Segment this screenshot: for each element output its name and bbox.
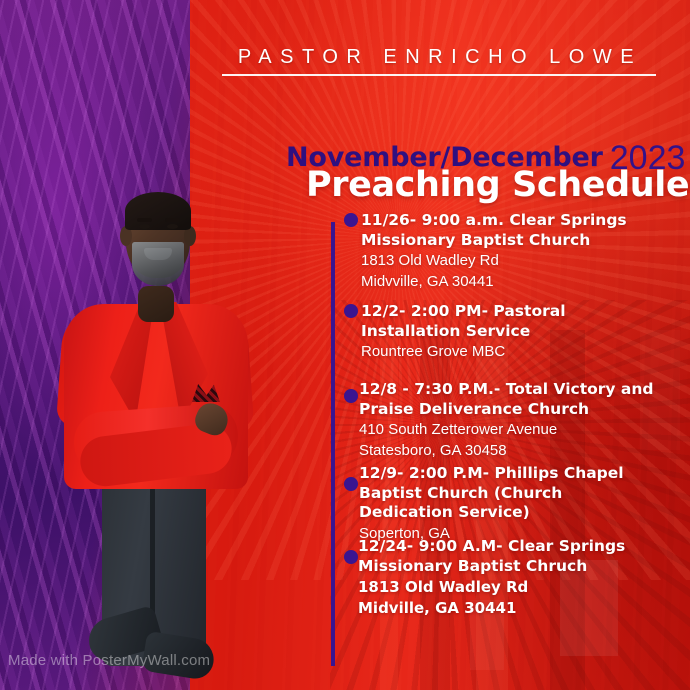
timeline-dot bbox=[344, 389, 358, 403]
timeline-dot bbox=[344, 550, 358, 564]
entry-address-line2: Statesboro, GA 30458 bbox=[359, 442, 659, 460]
entry-address-line1: 1813 Old Wadley Rd bbox=[361, 252, 661, 270]
postermywall-watermark: Made with PosterMyWall.com bbox=[8, 652, 210, 669]
pastor-name-underline bbox=[222, 74, 656, 76]
pastor-name-heading: PASTOR ENRICHO LOWE bbox=[222, 46, 658, 69]
portrait-beard bbox=[132, 242, 184, 286]
timeline-dot bbox=[344, 213, 358, 227]
entry-headline: 11/26- 9:00 a.m. Clear Springs Missionar… bbox=[361, 211, 661, 250]
entry-headline: 12/24- 9:00 A.M- Clear Springs Missionar… bbox=[358, 537, 668, 576]
timeline-dot bbox=[344, 304, 358, 318]
schedule-entry: 12/8 - 7:30 P.M.- Total Victory and Prai… bbox=[359, 380, 659, 460]
portrait-eye-right bbox=[167, 224, 178, 229]
schedule-entry: 12/9- 2:00 P.M- Phillips Chapel Baptist … bbox=[359, 464, 644, 543]
entry-address-line2: Midvville, GA 30441 bbox=[361, 273, 661, 291]
entry-headline: 12/9- 2:00 P.M- Phillips Chapel Baptist … bbox=[359, 464, 644, 523]
page-title: Preaching Schedule bbox=[306, 165, 689, 205]
schedule-entry: 11/26- 9:00 a.m. Clear Springs Missionar… bbox=[361, 211, 661, 291]
portrait-eyebrow-right bbox=[165, 218, 180, 222]
entry-address-line1: Rountree Grove MBC bbox=[361, 343, 651, 361]
pastor-portrait-photo bbox=[40, 108, 270, 663]
timeline-dot bbox=[344, 477, 358, 491]
entry-headline: 12/2- 2:00 PM- Pastoral Installation Ser… bbox=[361, 302, 651, 341]
entry-address-line1: 410 South Zetterower Avenue bbox=[359, 421, 659, 439]
portrait-eye-left bbox=[139, 224, 150, 229]
entry-address-line1: 1813 Old Wadley Rd bbox=[358, 578, 668, 596]
portrait-eyebrow-left bbox=[137, 218, 152, 222]
entry-headline: 12/8 - 7:30 P.M.- Total Victory and Prai… bbox=[359, 380, 659, 419]
timeline-line bbox=[331, 222, 335, 666]
entry-address-line2: Midville, GA 30441 bbox=[358, 599, 668, 617]
schedule-entry: 12/24- 9:00 A.M- Clear Springs Missionar… bbox=[358, 537, 668, 617]
portrait-hair bbox=[125, 192, 191, 230]
schedule-entry: 12/2- 2:00 PM- Pastoral Installation Ser… bbox=[361, 302, 651, 362]
preaching-schedule-poster: PASTOR ENRICHO LOWE November/December202… bbox=[0, 0, 690, 690]
portrait-neck bbox=[138, 286, 174, 322]
